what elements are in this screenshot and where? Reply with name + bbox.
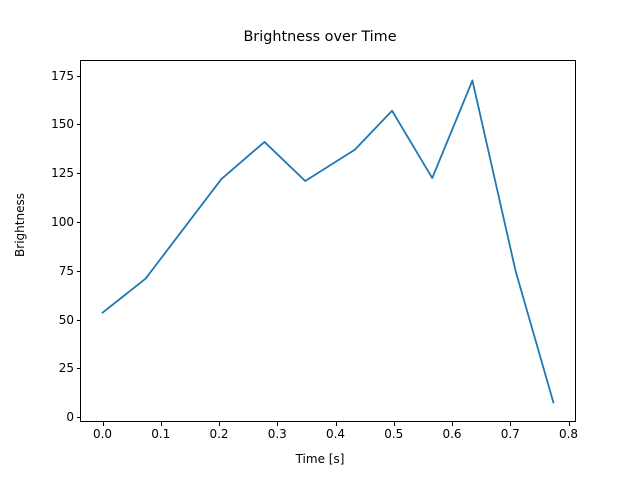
y-tick-label: 100: [51, 216, 74, 228]
y-tick-label: 50: [59, 314, 74, 326]
x-tick-mark: [103, 422, 104, 426]
brightness-line-series: [103, 80, 554, 402]
matplotlib-figure: Brightness over Time 0255075100125150175…: [0, 0, 640, 480]
x-tick-mark: [277, 422, 278, 426]
x-tick-mark: [452, 422, 453, 426]
y-tick-label: 25: [59, 362, 74, 374]
x-tick-label: 0.7: [480, 428, 540, 440]
y-tick-mark: [77, 320, 81, 321]
y-tick-mark: [77, 124, 81, 125]
x-tick-mark: [161, 422, 162, 426]
x-tick-mark: [569, 422, 570, 426]
x-tick-mark: [219, 422, 220, 426]
y-tick-mark: [77, 271, 81, 272]
chart-title: Brightness over Time: [0, 28, 640, 46]
y-tick-label: 175: [51, 70, 74, 82]
x-tick-mark: [336, 422, 337, 426]
y-tick-label: 125: [51, 167, 74, 179]
x-tick-mark: [394, 422, 395, 426]
y-axis-label: Brightness: [13, 165, 27, 285]
y-tick-mark: [77, 173, 81, 174]
x-tick-label: 0.2: [189, 428, 249, 440]
x-tick-label: 0.0: [73, 428, 133, 440]
x-tick-label: 0.4: [306, 428, 366, 440]
y-tick-label: 150: [51, 118, 74, 130]
y-tick-label: 0: [66, 411, 74, 423]
x-tick-label: 0.8: [539, 428, 599, 440]
y-tick-mark: [77, 222, 81, 223]
y-tick-mark: [77, 368, 81, 369]
y-tick-mark: [77, 417, 81, 418]
y-tick-mark: [77, 76, 81, 77]
plot-area: [80, 60, 576, 422]
x-tick-label: 0.6: [422, 428, 482, 440]
x-tick-label: 0.3: [247, 428, 307, 440]
y-tick-label: 75: [59, 265, 74, 277]
x-tick-label: 0.1: [131, 428, 191, 440]
x-tick-mark: [510, 422, 511, 426]
x-tick-label: 0.5: [364, 428, 424, 440]
x-axis-label: Time [s]: [0, 452, 640, 466]
